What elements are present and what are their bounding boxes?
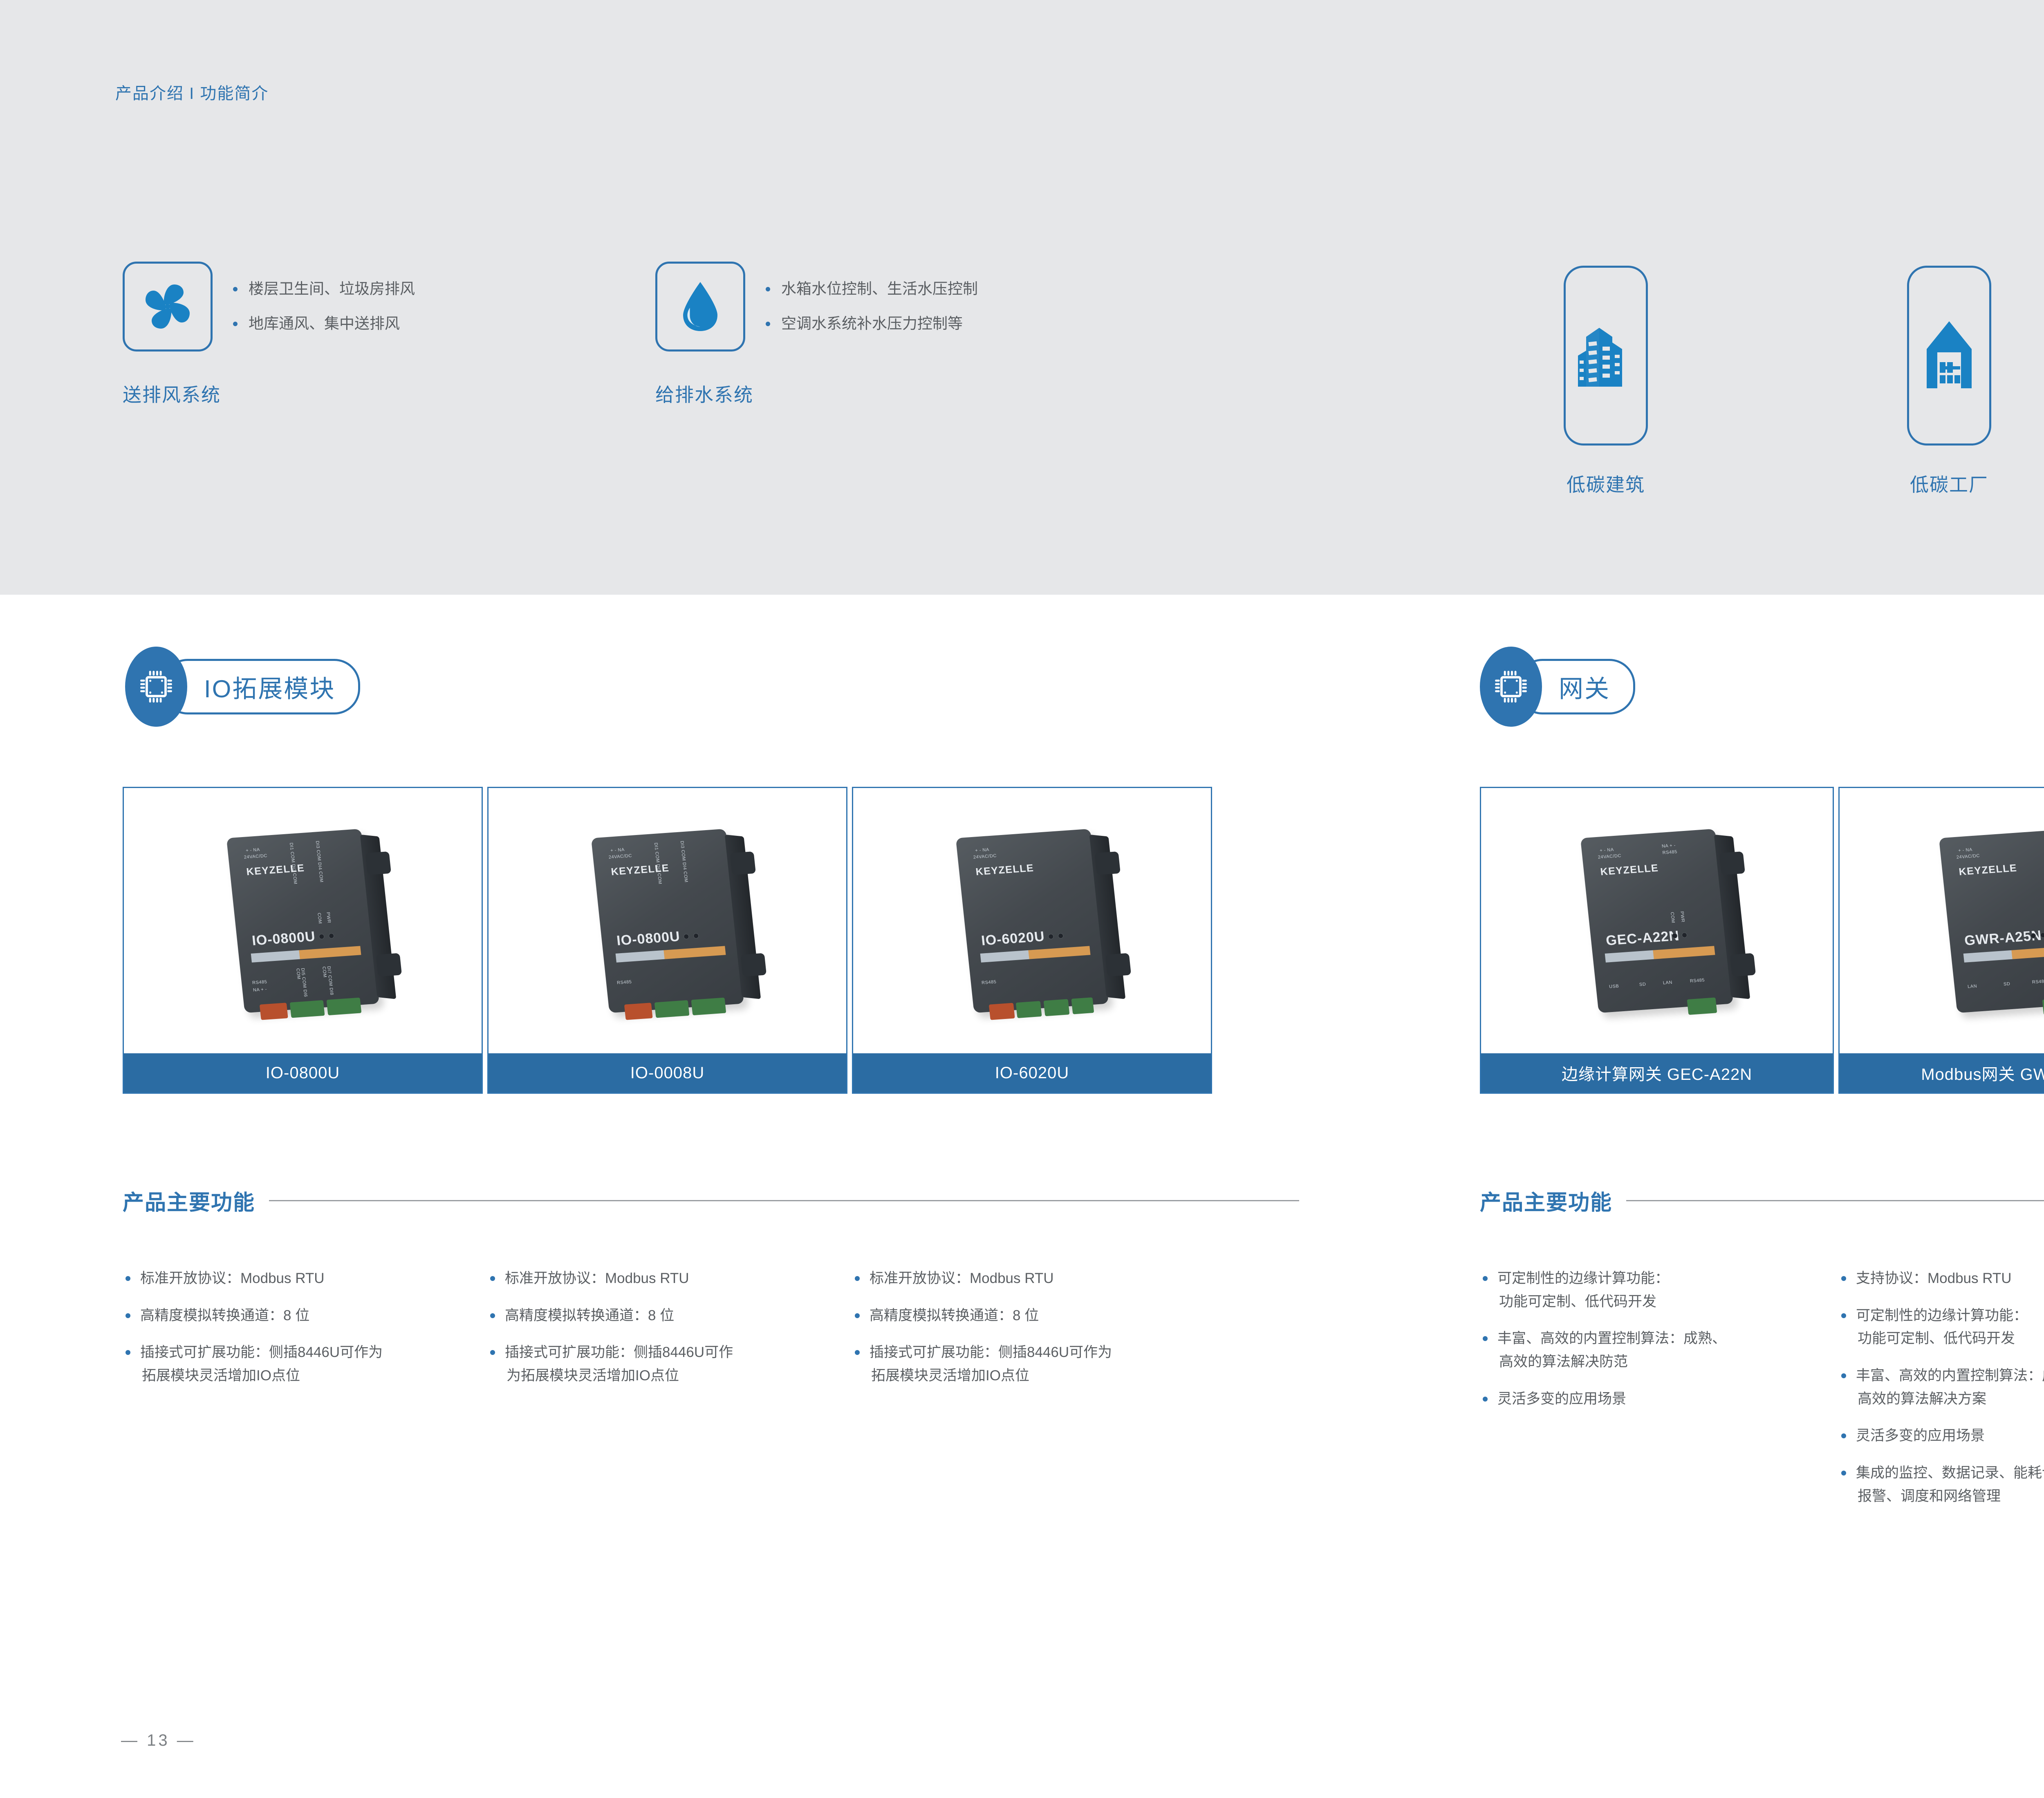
scenario-bullet: 水箱水位控制、生活水压控制 (766, 281, 978, 296)
feature-item: 灵活多变的应用场景 (1840, 1424, 2044, 1448)
factory-icon (1919, 315, 1979, 396)
device-sd-label: SD (1639, 982, 1646, 987)
features-header-gateway: 产品主要功能 (1480, 1185, 2044, 1216)
feature-item: 丰富、高效的内置控制算法：成熟、 高效的算法解决方案 (1840, 1364, 2044, 1411)
device-power-label: 24VAC/DC (1598, 853, 1621, 860)
device-rs485-label: RS485 (616, 979, 632, 985)
device-brand: KEYZELLE (975, 862, 1034, 878)
product-caption: Modbus网关 GWR-A25N (1840, 1053, 2044, 1093)
product-image-io-6020u: + - NA 24VAC/DC KEYZELLE IO-6020U RS485 (853, 788, 1211, 1053)
device-illustration: + - NA 24VAC/DC KEYZELLE GWR-A25N LAN SD… (1948, 833, 2044, 1009)
product-card[interactable]: + - NA 24VAC/DC DI1 COM DI2 COM DI3 COM … (123, 787, 483, 1094)
device-power-pins: + - NA (975, 847, 989, 853)
features-title-gateway: 产品主要功能 (1480, 1185, 1612, 1216)
product-caption: IO-0800U (124, 1053, 482, 1093)
scenario-label-ventilation: 送排风系统 (123, 380, 221, 407)
features-rule (269, 1200, 1299, 1201)
scenario-bullet: 地库通风、集中送排风 (233, 316, 415, 331)
product-card[interactable]: + - NA 24VAC/DC NA + - RS485 KEYZELLE GE… (1480, 787, 1834, 1094)
office-building-icon-frame (1564, 266, 1648, 446)
scenario-block-water: 给排水系统 水箱水位控制、生活水压控制 空调水系统补水压力控制等 (655, 262, 753, 407)
feature-column: 标准开放协议：Modbus RTU 高精度模拟转换通道：8 位 插接式可扩展功能… (125, 1267, 484, 1402)
product-image-io-0800u: + - NA 24VAC/DC DI1 COM DI2 COM DI3 COM … (124, 788, 482, 1053)
scenario-bullet: 楼层卫生间、垃圾房排风 (233, 281, 415, 296)
device-power-pins: + - NA (1958, 847, 1973, 853)
factory-icon-frame (1907, 266, 1991, 446)
section-title-gateway: 网关 (1559, 669, 1610, 705)
device-rs485-pins: NA + - (1661, 843, 1676, 849)
product-image-io-0008u: + - NA 24VAC/DC DI1 COM DI2 COM DI3 COM … (489, 788, 846, 1053)
device-model: IO-0800U (616, 929, 681, 949)
scenario-bullet: 空调水系统补水压力控制等 (766, 316, 978, 331)
device-usb-label: USB (1609, 983, 1619, 989)
feature-column: 可定制性的边缘计算功能： 功能可定制、低代码开发 丰富、高效的内置控制算法：成熟… (1482, 1267, 1833, 1424)
product-caption: IO-6020U (853, 1053, 1211, 1093)
device-rs485-label: RS485 (252, 979, 267, 985)
page-number-left: — 13 — (121, 1731, 196, 1750)
device-illustration: + - NA 24VAC/DC KEYZELLE IO-6020U RS485 (965, 833, 1100, 1009)
device-rs485-label: RS485 (1662, 849, 1677, 855)
product-caption: 边缘计算网关 GEC-A22N (1481, 1053, 1833, 1093)
device-led-pwr-label: PWR (325, 912, 332, 923)
device-brand: KEYZELLE (1958, 862, 2017, 878)
feature-item: 标准开放协议：Modbus RTU (489, 1267, 849, 1290)
fan-icon-frame (123, 262, 213, 352)
device-power-pins: + - NA (1600, 847, 1614, 853)
low-carbon-label-factory: 低碳工厂 (1907, 470, 1991, 497)
device-model: IO-0800U (251, 929, 316, 949)
product-image-gec-a22n: + - NA 24VAC/DC NA + - RS485 KEYZELLE GE… (1481, 788, 1833, 1053)
device-power-label: 24VAC/DC (1956, 853, 1980, 860)
feature-item: 标准开放协议：Modbus RTU (854, 1267, 1214, 1290)
water-drop-icon-frame (655, 262, 745, 352)
device-lan-label: LAN (1968, 983, 1977, 989)
feature-item: 可定制性的边缘计算功能： 功能可定制、低代码开发 (1482, 1267, 1833, 1313)
section-pill-body-io: IO拓展模块 (162, 659, 360, 714)
product-caption: IO-0008U (489, 1053, 846, 1093)
feature-item: 高精度模拟转换通道：8 位 (854, 1304, 1214, 1328)
scenario-bullets-water: 水箱水位控制、生活水压控制 空调水系统补水压力控制等 (766, 281, 978, 351)
feature-item: 高精度模拟转换通道：8 位 (125, 1304, 484, 1328)
device-model: IO-6020U (980, 929, 1045, 949)
feature-column: 标准开放协议：Modbus RTU 高精度模拟转换通道：8 位 插接式可扩展功能… (489, 1267, 849, 1402)
device-sd-label: SD (2003, 981, 2010, 987)
fan-icon (137, 276, 198, 337)
low-carbon-factory-block: 低碳工厂 (1907, 266, 1991, 497)
feature-item: 灵活多变的应用场景 (1482, 1388, 1833, 1411)
section-pill-gateway[interactable]: 网关 (1480, 647, 1635, 727)
feature-item: 高精度模拟转换通道：8 位 (489, 1304, 849, 1328)
device-rs485-bottom-label: RS485 (1690, 978, 1705, 983)
device-power-label: 24VAC/DC (973, 853, 997, 860)
device-lan-label: LAN (1663, 980, 1672, 985)
device-illustration: + - NA 24VAC/DC DI1 COM DI2 COM DI3 COM … (235, 833, 370, 1009)
page-root: 产品介绍 I 功能简介 产品介绍 I 功能简介 送排风系统 楼层卫生间、垃 (0, 0, 2044, 1798)
feature-item: 集成的监控、数据记录、能耗计量、 报警、调度和网络管理 (1840, 1462, 2044, 1508)
scenario-label-water: 给排水系统 (655, 380, 753, 407)
feature-item: 可定制性的边缘计算功能： 功能可定制、低代码开发 (1840, 1304, 2044, 1350)
device-model: GEC-A22N (1605, 928, 1680, 949)
feature-item: 插接式可扩展功能：侧插8446U可作 为拓展模块灵活增加IO点位 (489, 1341, 849, 1387)
scenario-block-ventilation: 送排风系统 楼层卫生间、垃圾房排风 地库通风、集中送排风 (123, 262, 221, 407)
water-drop-icon (670, 276, 731, 337)
device-led-com-label: COM (1670, 911, 1676, 923)
device-led-pwr-label: PWR (1679, 911, 1685, 923)
device-illustration: + - NA 24VAC/DC NA + - RS485 KEYZELLE GE… (1589, 833, 1724, 1009)
scenario-bullets-ventilation: 楼层卫生间、垃圾房排风 地库通风、集中送排风 (233, 281, 415, 351)
product-image-gwr-a25n: + - NA 24VAC/DC KEYZELLE GWR-A25N LAN SD… (1840, 788, 2044, 1053)
feature-item: 插接式可扩展功能：侧插8446U可作为 拓展模块灵活增加IO点位 (854, 1341, 1214, 1387)
chip-icon-badge (1480, 647, 1542, 727)
device-power-label: 24VAC/DC (608, 853, 632, 860)
chip-icon (137, 668, 175, 705)
device-brand: KEYZELLE (1600, 862, 1659, 878)
device-model: GWR-A25N (1963, 927, 2042, 949)
device-di-top-2: DI3 COM DI4 COM (314, 840, 324, 882)
device-power-pins: + - NA (610, 847, 625, 853)
device-power-pins: + - NA (245, 847, 260, 853)
low-carbon-building-block: 低碳建筑 (1564, 266, 1648, 497)
device-rs485-pins: NA + - (253, 987, 267, 992)
office-building-icon (1575, 315, 1637, 396)
device-di-top-2: DI3 COM DI4 COM (679, 840, 688, 882)
feature-item: 插接式可扩展功能：侧插8446U可作为 拓展模块灵活增加IO点位 (125, 1341, 484, 1387)
product-card[interactable]: + - NA 24VAC/DC DI1 COM DI2 COM DI3 COM … (487, 787, 847, 1094)
device-illustration: + - NA 24VAC/DC DI1 COM DI2 COM DI3 COM … (600, 833, 735, 1009)
low-carbon-label-building: 低碳建筑 (1564, 470, 1648, 497)
features-title-io: 产品主要功能 (123, 1185, 255, 1216)
feature-item: 标准开放协议：Modbus RTU (125, 1267, 484, 1290)
feature-item: 丰富、高效的内置控制算法：成熟、 高效的算法解决防范 (1482, 1327, 1833, 1373)
section-pill-io-modules[interactable]: IO拓展模块 (125, 647, 360, 727)
feature-column: 标准开放协议：Modbus RTU 高精度模拟转换通道：8 位 插接式可扩展功能… (854, 1267, 1214, 1402)
product-card[interactable]: + - NA 24VAC/DC KEYZELLE IO-6020U RS485 … (852, 787, 1212, 1094)
feature-column: 支持协议：Modbus RTU 可定制性的边缘计算功能： 功能可定制、低代码开发… (1840, 1267, 2044, 1522)
device-rs485-bottom-label: RS485 (2032, 978, 2044, 984)
device-rs485-label: RS485 (981, 979, 996, 985)
device-led-com-label: COM (316, 912, 323, 924)
section-title-io: IO拓展模块 (204, 669, 335, 705)
feature-item: 支持协议：Modbus RTU (1840, 1267, 2044, 1290)
features-rule (1626, 1200, 2044, 1201)
chip-icon-badge (125, 647, 187, 727)
product-card[interactable]: + - NA 24VAC/DC KEYZELLE GWR-A25N LAN SD… (1838, 787, 2044, 1094)
device-power-label: 24VAC/DC (244, 853, 267, 860)
chip-icon (1492, 668, 1530, 705)
running-head-left: 产品介绍 I 功能简介 (115, 80, 269, 104)
